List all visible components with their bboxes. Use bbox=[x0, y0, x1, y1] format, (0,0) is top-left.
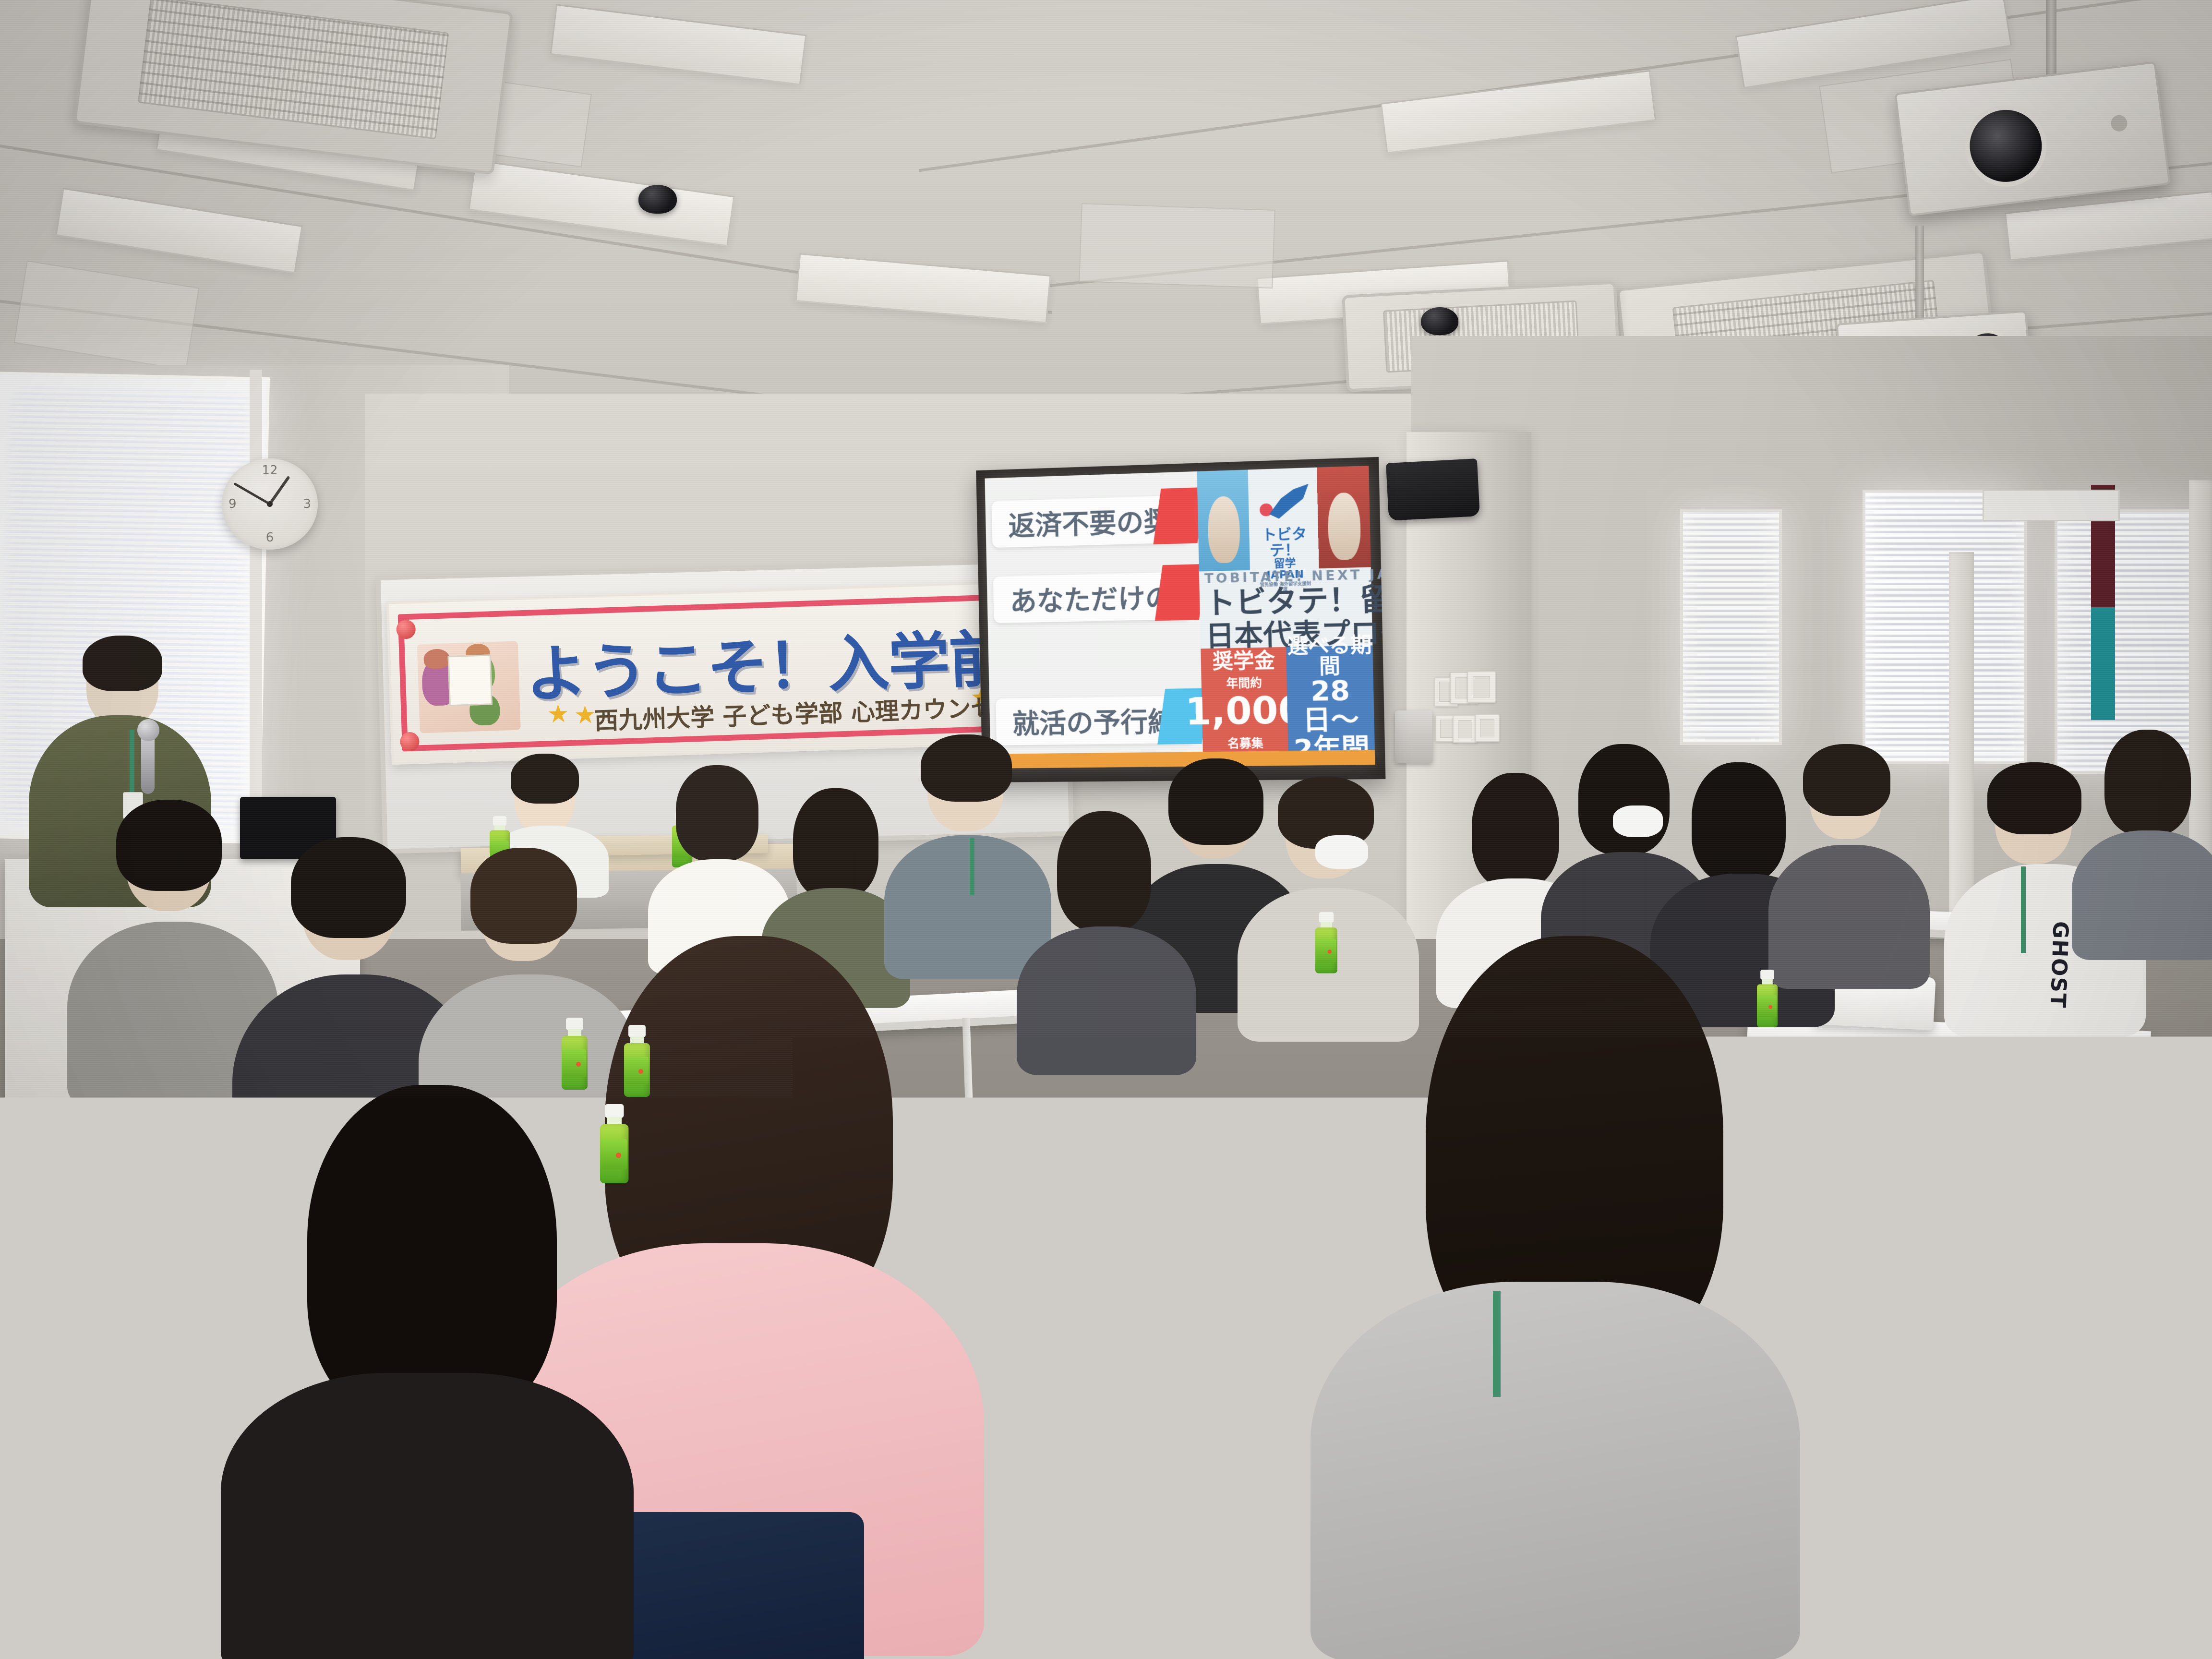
slide-badge-scholarship: 奨学金 年間約 1,000 名募集 bbox=[1201, 647, 1288, 755]
projector-mount-pole bbox=[1915, 226, 1924, 326]
foreground-right-top bbox=[1310, 1282, 1800, 1659]
badge-scholarship-heading: 奨学金 bbox=[1212, 650, 1275, 672]
ceiling-tile bbox=[1079, 203, 1275, 289]
projector-lens-icon bbox=[1960, 100, 2051, 191]
slide-title-jp-line1: トビタテ！留学JAPAN bbox=[1204, 583, 1367, 621]
banner-illustration bbox=[417, 641, 521, 733]
wall-trim bbox=[1983, 490, 2120, 521]
badge-scholarship-sub: 年間約 bbox=[1226, 673, 1262, 691]
audience-top bbox=[1768, 845, 1930, 989]
wall-clock: 12 3 6 9 bbox=[222, 458, 318, 550]
logo-text-line1: トビタテ！ bbox=[1262, 526, 1307, 559]
audience-foreground-left bbox=[250, 1085, 614, 1659]
table-leg bbox=[1157, 1431, 1167, 1656]
audience-hair bbox=[116, 800, 222, 891]
table-leg bbox=[1795, 1162, 1803, 1320]
slide-bullet-3: 就活の予行練習にも！ bbox=[996, 696, 1194, 745]
clock-numeral-3: 3 bbox=[303, 497, 311, 511]
banner-star-icon: ★ bbox=[547, 699, 570, 729]
banner-kid-head bbox=[423, 649, 450, 669]
badge-duration-heading: 選べる期間 bbox=[1286, 635, 1373, 678]
ceiling-dome-camera bbox=[638, 185, 677, 214]
white-stacking-chair[interactable] bbox=[1837, 1139, 1984, 1218]
slide-badge-duration: 選べる期間 28日〜 2年間 bbox=[1286, 645, 1375, 754]
wall-intercom[interactable] bbox=[1395, 710, 1432, 763]
slide-left-column: 返済不要の奨学金 あなただけの留学プラン 就活の予行練習にも！ bbox=[985, 471, 1203, 769]
audience-hair bbox=[1472, 773, 1559, 888]
slide-badges: 奨学金 年間約 1,000 名募集 選べる期間 28日〜 2年間 bbox=[1201, 645, 1375, 755]
wall-speaker bbox=[1386, 458, 1480, 521]
light-switch-plate[interactable] bbox=[1467, 671, 1496, 703]
audience-hair bbox=[2104, 730, 2191, 835]
audience-foreground-far-right bbox=[1987, 1046, 2212, 1659]
tobitate-logo: トビタテ！ 留学JAPAN 官民協働 海外留学支援制度 bbox=[1253, 468, 1314, 570]
microphone[interactable] bbox=[141, 733, 155, 794]
audience-hair bbox=[1803, 744, 1890, 816]
audience-hair bbox=[1987, 762, 2081, 834]
audience-hair bbox=[676, 765, 758, 861]
audience-lanyard bbox=[2021, 866, 2026, 953]
far-right-top bbox=[1959, 1253, 2212, 1659]
face-mask bbox=[1315, 835, 1368, 869]
panelist-hair bbox=[511, 754, 579, 804]
clock-numeral-12: 12 bbox=[262, 463, 277, 478]
room-sign-bottom bbox=[2091, 607, 2115, 720]
seminar-room-photo: 12 3 6 9 ようこそ！入学前セミナーへ ★ ★ ★ ★ 西九州大学 子ども… bbox=[0, 0, 2212, 1659]
portrait-female-face bbox=[1327, 493, 1361, 560]
power-outlet-plate[interactable] bbox=[1475, 714, 1500, 742]
clock-minute-hand bbox=[233, 482, 270, 505]
audience-hair bbox=[1057, 811, 1151, 931]
clock-numeral-9: 9 bbox=[228, 497, 237, 511]
air-conditioner-slats bbox=[137, 0, 449, 140]
slide-right-column: トビタテ！ 留学JAPAN 官民協働 海外留学支援制度 TOBITATE! NE… bbox=[1197, 466, 1375, 767]
projector-sensor-icon bbox=[2110, 114, 2128, 132]
projector-mount-pole bbox=[2046, 0, 2056, 82]
audience-hair bbox=[921, 734, 1012, 802]
audience-hair bbox=[291, 837, 406, 938]
speaker-lanyard bbox=[130, 730, 134, 792]
logo-bird-icon bbox=[1269, 484, 1310, 526]
audience-member bbox=[1776, 749, 1920, 989]
window-frame bbox=[250, 370, 262, 845]
table-leg bbox=[1051, 1162, 1059, 1344]
badge-duration-from: 28日〜 bbox=[1287, 676, 1375, 735]
window-with-blinds bbox=[1863, 490, 2027, 764]
audience-top bbox=[1017, 926, 1196, 1075]
slide-portraits: トビタテ！ 留学JAPAN 官民協働 海外留学支援制度 bbox=[1197, 466, 1371, 572]
face-mask bbox=[1613, 805, 1663, 837]
audience-top bbox=[2072, 830, 2212, 960]
ceiling-dome-camera bbox=[1421, 307, 1458, 335]
audience-member bbox=[2079, 734, 2212, 960]
microphone-head-icon bbox=[137, 719, 159, 741]
window-with-blinds bbox=[1680, 509, 1782, 745]
portrait-female bbox=[1317, 466, 1371, 569]
foreground-left-hair bbox=[307, 1085, 557, 1421]
audience-lanyard bbox=[970, 838, 974, 895]
portrait-male bbox=[1197, 469, 1250, 572]
presentation-slide: 返済不要の奨学金 あなただけの留学プラン 就活の予行練習にも！ bbox=[985, 466, 1375, 769]
clock-hour-hand bbox=[269, 476, 290, 505]
clock-center-pin bbox=[267, 501, 273, 507]
power-outlet-plate[interactable] bbox=[1453, 715, 1478, 743]
projection-screen: 返済不要の奨学金 あなただけの留学プラン 就活の予行練習にも！ bbox=[976, 457, 1385, 782]
audience-foreground-right bbox=[1339, 936, 1771, 1656]
audience-member bbox=[1027, 816, 1186, 1070]
foreground-left-top bbox=[221, 1373, 634, 1659]
banner-board bbox=[448, 654, 493, 707]
audience-hair bbox=[470, 848, 577, 944]
projection-screen-surface: 返済不要の奨学金 あなただけの留学プラン 就活の予行練習にも！ bbox=[976, 457, 1385, 782]
slide-bullet-1: 返済不要の奨学金 bbox=[992, 495, 1190, 548]
badge-scholarship-foot: 名募集 bbox=[1227, 733, 1263, 751]
audience-hair bbox=[1578, 744, 1670, 854]
portrait-male-face bbox=[1207, 496, 1240, 563]
audience-hair bbox=[793, 788, 878, 899]
speaker-hair bbox=[83, 636, 162, 691]
hoodie-text: GHOST bbox=[2045, 921, 2073, 1009]
audience-hair bbox=[1692, 762, 1786, 882]
slide-bullet-2: あなただけの留学プラン bbox=[993, 572, 1191, 623]
clock-numeral-6: 6 bbox=[266, 530, 274, 545]
foreground-right-lanyard bbox=[1493, 1291, 1501, 1397]
